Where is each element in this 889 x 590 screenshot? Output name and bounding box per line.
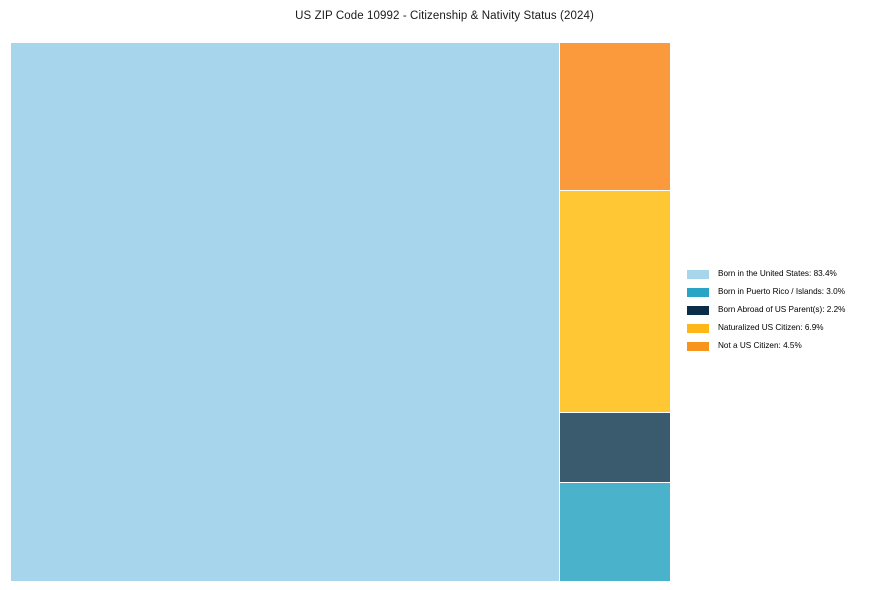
legend-swatch-icon-born-in-puerto-rico-islands: [687, 288, 709, 297]
legend-label-not-a-us-citizen: Not a US Citizen: 4.5%: [718, 341, 802, 351]
chart-title: US ZIP Code 10992 - Citizenship & Nativi…: [0, 9, 889, 23]
treemap-tile-born-in-puerto-rico-islands[interactable]: [560, 483, 670, 581]
legend-item-naturalized-us-citizen[interactable]: Naturalized US Citizen: 6.9%: [687, 319, 882, 337]
legend-swatch-icon-born-abroad-of-us-parents: [687, 306, 709, 315]
treemap-plot-area: [11, 43, 670, 581]
legend-item-not-a-us-citizen[interactable]: Not a US Citizen: 4.5%: [687, 337, 882, 355]
legend-swatch-icon-naturalized-us-citizen: [687, 324, 709, 333]
legend-item-born-in-the-united-states[interactable]: Born in the United States: 83.4%: [687, 265, 882, 283]
chart-figure: US ZIP Code 10992 - Citizenship & Nativi…: [0, 0, 889, 590]
legend-item-born-in-puerto-rico-islands[interactable]: Born in Puerto Rico / Islands: 3.0%: [687, 283, 882, 301]
legend-label-born-in-the-united-states: Born in the United States: 83.4%: [718, 269, 837, 279]
legend-item-born-abroad-of-us-parents[interactable]: Born Abroad of US Parent(s): 2.2%: [687, 301, 882, 319]
treemap-tile-not-a-us-citizen[interactable]: [560, 43, 670, 190]
legend-swatch-icon-not-a-us-citizen: [687, 342, 709, 351]
legend-label-naturalized-us-citizen: Naturalized US Citizen: 6.9%: [718, 323, 824, 333]
chart-legend: Born in the United States: 83.4% Born in…: [687, 265, 882, 355]
treemap-tile-naturalized-us-citizen[interactable]: [560, 191, 670, 412]
legend-swatch-icon-born-in-the-united-states: [687, 270, 709, 279]
legend-label-born-in-puerto-rico-islands: Born in Puerto Rico / Islands: 3.0%: [718, 287, 845, 297]
treemap-tile-born-abroad-of-us-parents[interactable]: [560, 413, 670, 482]
treemap-tile-born-in-the-united-states[interactable]: [11, 43, 559, 581]
legend-label-born-abroad-of-us-parents: Born Abroad of US Parent(s): 2.2%: [718, 305, 845, 315]
